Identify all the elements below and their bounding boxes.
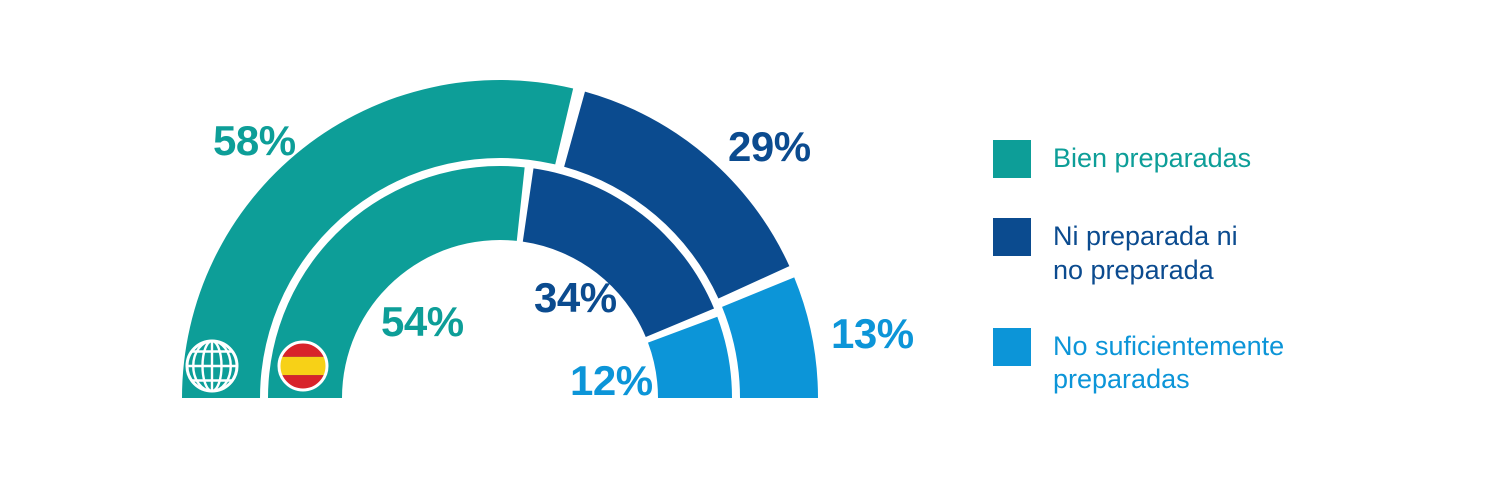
donut-chart: 58%29%13%54%34%12%	[0, 0, 960, 502]
legend-item-bien[interactable]: Bien preparadas	[993, 140, 1453, 178]
donut-svg	[0, 0, 960, 502]
legend-swatch-ni	[993, 218, 1031, 256]
legend-item-ni[interactable]: Ni preparada ni no preparada	[993, 218, 1453, 288]
arc-segment-global-no[interactable]	[722, 277, 818, 398]
label-spain-ni: 34%	[534, 277, 617, 319]
label-spain-no: 12%	[570, 360, 653, 402]
chart-canvas: 58%29%13%54%34%12% Bien preparadasNi pre…	[0, 0, 1500, 502]
label-global-bien: 58%	[213, 120, 296, 162]
legend-label-bien: Bien preparadas	[1053, 140, 1251, 176]
legend: Bien preparadasNi preparada ni no prepar…	[993, 140, 1453, 437]
legend-swatch-no	[993, 328, 1031, 366]
globe-icon	[187, 341, 237, 391]
spain-flag-icon	[279, 342, 327, 390]
legend-label-no: No suficientemente preparadas	[1053, 328, 1284, 398]
label-global-no: 13%	[831, 313, 914, 355]
legend-item-no[interactable]: No suficientemente preparadas	[993, 328, 1453, 398]
legend-swatch-bien	[993, 140, 1031, 178]
label-global-ni: 29%	[728, 126, 811, 168]
legend-label-ni: Ni preparada ni no preparada	[1053, 218, 1238, 288]
label-spain-bien: 54%	[381, 301, 464, 343]
